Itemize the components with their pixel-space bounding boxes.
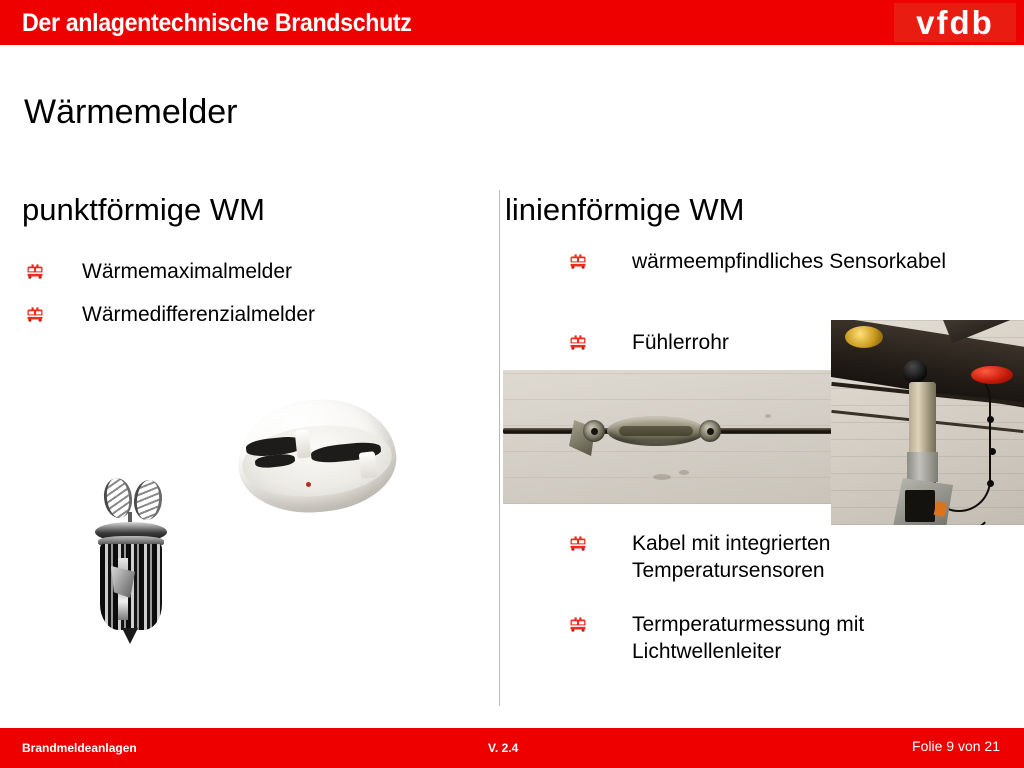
wall-texture-speck [679, 470, 689, 475]
detector-tab [359, 451, 378, 479]
wire-clip [987, 480, 994, 487]
device-red-indicator [971, 366, 1013, 384]
junction-box [905, 490, 935, 522]
bimetal-coil [132, 479, 164, 522]
left-column-heading: punktförmige WM [22, 192, 265, 228]
turnbuckle-eye-hole [591, 428, 598, 435]
list-item-label: Wärmedifferenzialmelder [82, 301, 482, 328]
sensor-cable-turnbuckle-photo [503, 370, 838, 504]
turnbuckle-eye-hole [707, 428, 714, 435]
sensor-tube-base [907, 452, 938, 482]
point-detector-round-photo [232, 382, 402, 528]
wire-clip [987, 416, 994, 423]
list-item-label: Termperaturmessung mit Lichtwellenleiter [632, 611, 962, 666]
fire-truck-icon [568, 534, 588, 552]
heat-detector-cage-photo [78, 470, 186, 656]
vfdb-logo-text: vfdb [916, 6, 994, 39]
page-title: Der anlagentechnische Brandschutz [22, 9, 412, 38]
list-item-label: wärmeempfindliches Sensorkabel [632, 248, 962, 275]
footer-version-label: V. 2.4 [488, 741, 518, 755]
wall-texture-speck [653, 474, 671, 480]
wire-clip [989, 448, 996, 455]
fire-truck-icon [568, 333, 588, 351]
slide-title: Wärmemelder [24, 93, 237, 132]
fire-truck-icon [25, 262, 45, 280]
list-item-label: Kabel mit integrierten Temperatursensore… [632, 530, 962, 585]
turnbuckle-slot [619, 426, 693, 436]
right-column-heading: linienförmige WM [505, 192, 744, 228]
wall-texture-speck [765, 414, 771, 418]
fire-truck-icon [568, 252, 588, 270]
slide-canvas: Der anlagentechnische Brandschutz vfdb W… [0, 0, 1024, 768]
ceiling-sensor-device-photo [831, 320, 1024, 525]
detector-tip [122, 628, 138, 644]
footer-slide-number: Folie 9 von 21 [912, 738, 1000, 754]
device-cap [903, 360, 927, 382]
fire-truck-icon [568, 615, 588, 633]
vfdb-logo: vfdb [894, 3, 1016, 42]
list-item-label: Wärmemaximalmelder [82, 258, 482, 285]
detector-tab [295, 429, 312, 458]
sensor-tube [909, 382, 936, 458]
column-divider [499, 190, 500, 706]
ceiling-lamp [845, 326, 883, 348]
footer-topic-label: Brandmeldeanlagen [22, 741, 137, 755]
fire-truck-icon [25, 305, 45, 323]
detector-led [306, 482, 311, 487]
